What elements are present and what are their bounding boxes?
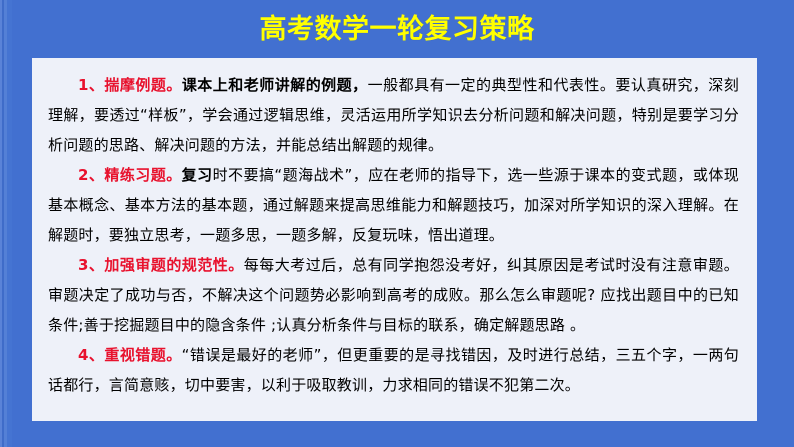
strategy-1-bold-run: 课本上和老师讲解的例题，: [182, 76, 368, 94]
strategy-paragraph-3: 3、加强审题的规范性。每每大考过后，总有同学抱怨没考好，纠其原因是考试时没有注意…: [48, 250, 739, 340]
content-panel: 1、揣摩例题。课本上和老师讲解的例题，一般都具有一定的典型性和代表性。要认真研究…: [32, 58, 757, 421]
page-title: 高考数学一轮复习策略: [260, 16, 535, 43]
presentation-slide: 高考数学一轮复习策略 1、揣摩例题。课本上和老师讲解的例题，一般都具有一定的典型…: [0, 0, 794, 447]
strategy-3-heading: 3、加强审题的规范性。: [78, 256, 244, 274]
strategy-paragraph-1: 1、揣摩例题。课本上和老师讲解的例题，一般都具有一定的典型性和代表性。要认真研究…: [48, 70, 739, 160]
strategy-1-heading: 1、揣摩例题。: [78, 76, 182, 94]
slide-title-bar: 高考数学一轮复习策略: [0, 0, 794, 58]
strategy-paragraph-2: 2、精练习题。复习时不要搞“题海战术”，应在老师的指导下，选一些源于课本的变式题…: [48, 160, 739, 250]
strategy-paragraph-4: 4、重视错题。“错误是最好的老师”，但更重要的是寻找错因，及时进行总结，三五个字…: [48, 340, 739, 400]
strategy-2-bold-run: 复习: [182, 166, 213, 184]
strategy-2-heading: 2、精练习题。: [78, 166, 182, 184]
left-edge-stripe: [0, 0, 12, 447]
strategy-4-heading: 4、重视错题。: [78, 346, 182, 364]
